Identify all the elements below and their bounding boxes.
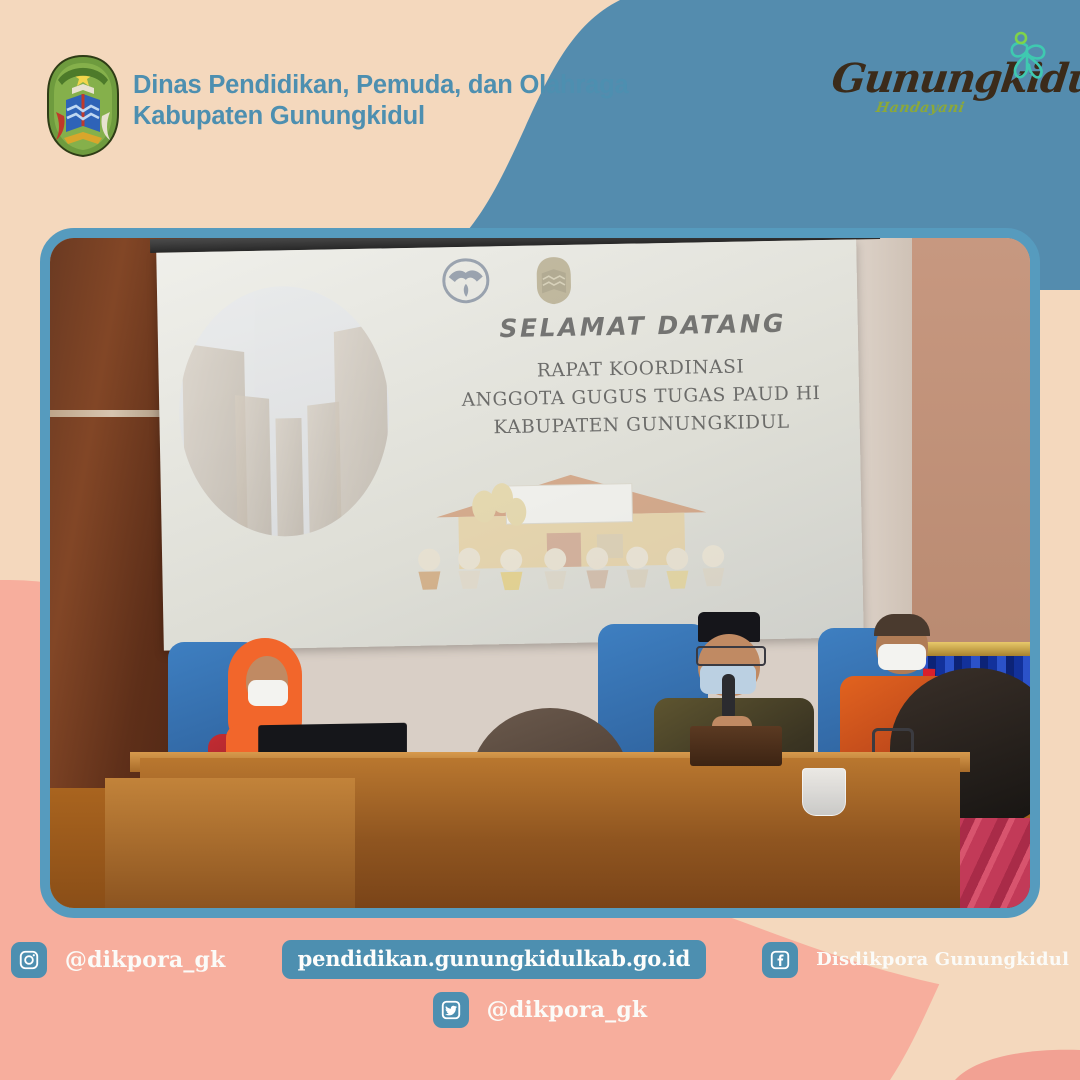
slide-welcome-text: SELAMAT DATANG [457,308,827,344]
school-children-illustration-icon [406,468,738,594]
microphone [722,674,735,720]
event-photo: SELAMAT DATANG RAPAT KOORDINASI ANGGOTA … [40,228,1040,918]
gunungkidul-crest-icon [533,255,574,306]
dragonfly-icon [998,30,1056,88]
poster-canvas: Dinas Pendidikan, Pemuda, dan Olahraga K… [0,0,1080,1080]
poster-header: Dinas Pendidikan, Pemuda, dan Olahraga K… [0,0,1080,200]
facebook-page-name[interactable]: Disdikpora Gunungkidul [816,949,1069,970]
presentation-slide: SELAMAT DATANG RAPAT KOORDINASI ANGGOTA … [156,239,864,650]
drink-cup [802,768,846,816]
poster-footer: @dikpora_gk pendidikan.gunungkidulkab.go… [0,930,1080,1080]
tut-wuri-handayani-icon [439,256,492,305]
face-mask [878,644,926,670]
footer-row-secondary: @dikpora_gk [0,992,1080,1028]
title-line-2: Kabupaten Gunungkidul [133,101,628,132]
twitter-handle[interactable]: @dikpora_gk [487,997,648,1023]
instagram-handle[interactable]: @dikpora_gk [65,947,226,973]
twitter-icon[interactable] [433,992,469,1028]
skyscrapers-photo-icon [177,284,392,538]
slide-logos [439,255,574,308]
page-title: Dinas Pendidikan, Pemuda, dan Olahraga K… [133,70,628,132]
podium-box [690,726,782,766]
face-mask [248,680,288,706]
title-line-1: Dinas Pendidikan, Pemuda, dan Olahraga [133,71,628,99]
gunungkidul-brand-logo: Gunungkidul Handayani [832,30,1062,135]
side-table [105,778,355,908]
slide-subject: RAPAT KOORDINASI ANGGOTA GUGUS TUGAS PAU… [430,351,852,443]
brand-tagline: Handayani [875,100,966,116]
instagram-icon[interactable] [11,942,47,978]
facebook-icon[interactable] [762,942,798,978]
projection-screen: SELAMAT DATANG RAPAT KOORDINASI ANGGOTA … [156,239,864,650]
gunungkidul-regency-crest-icon [46,54,120,158]
footer-row-primary: @dikpora_gk pendidikan.gunungkidulkab.go… [0,940,1080,979]
website-url[interactable]: pendidikan.gunungkidulkab.go.id [282,940,707,979]
